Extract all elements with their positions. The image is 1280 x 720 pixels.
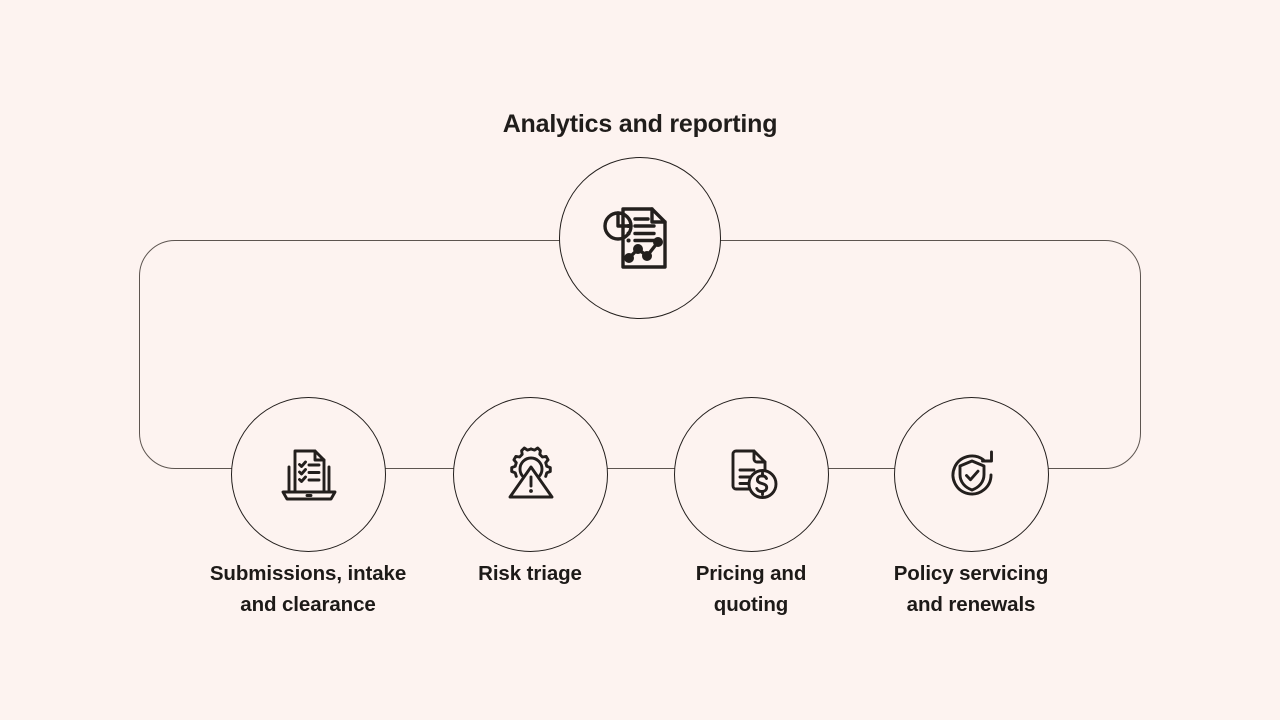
stage-node-risk-triage[interactable] <box>453 397 608 552</box>
document-dollar-coin-icon <box>716 439 788 511</box>
diagram-canvas: Analytics and reporting <box>0 0 1280 720</box>
report-document-chart-icon <box>594 192 686 284</box>
stage-node-pricing-quoting[interactable] <box>674 397 829 552</box>
hub-node-analytics-and-reporting[interactable] <box>559 157 721 319</box>
stage-label-policy-servicing: Policy servicing and renewals <box>826 558 1116 620</box>
shield-check-renewal-icon <box>936 439 1008 511</box>
stage-node-submissions[interactable] <box>231 397 386 552</box>
page-title: Analytics and reporting <box>0 110 1280 139</box>
laptop-checklist-icon <box>273 439 345 511</box>
gear-warning-triangle-icon <box>495 439 567 511</box>
stage-node-policy-servicing[interactable] <box>894 397 1049 552</box>
